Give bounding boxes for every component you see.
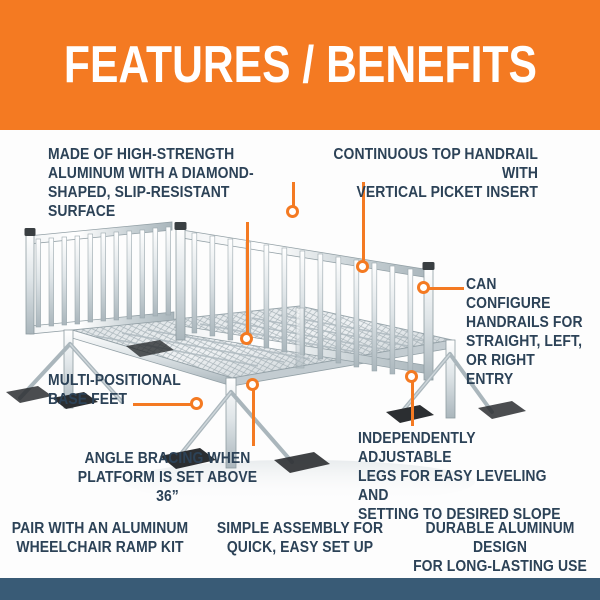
callout-line: OR RIGHT ENTRY	[466, 352, 583, 390]
callout-line: PLATFORM IS SET ABOVE 36”	[71, 469, 265, 507]
callout-line: VERTICAL PICKET INSERT	[313, 184, 538, 203]
callout-material: MADE OF HIGH-STRENGTH ALUMINUM WITH A DI…	[48, 146, 264, 222]
callout-angle-bracing: ANGLE BRACING WHEN PLATFORM IS SET ABOVE…	[71, 450, 265, 507]
callout-handrail: CONTINUOUS TOP HANDRAIL WITH VERTICAL PI…	[313, 146, 538, 203]
bottom-feature-durability: DURABLE ALUMINUM DESIGN FOR LONG-LASTING…	[400, 520, 600, 577]
bottom-feature-ramp-kit: PAIR WITH AN ALUMINUM WHEELCHAIR RAMP KI…	[0, 520, 200, 558]
callout-configure: CAN CONFIGURE HANDRAILS FOR STRAIGHT, LE…	[466, 276, 583, 389]
callout-line: STRAIGHT, LEFT,	[466, 333, 583, 352]
callout-line: CAN CONFIGURE	[466, 276, 583, 314]
callout-marker-configure	[417, 281, 430, 294]
bottom-feature-line: QUICK, EASY SET UP	[210, 539, 390, 558]
callout-line: MADE OF HIGH-STRENGTH	[48, 146, 264, 165]
callout-marker-base-feet	[190, 397, 203, 410]
bottom-feature-assembly: SIMPLE ASSEMBLY FOR QUICK, EASY SET UP	[200, 520, 400, 558]
bottom-feature-line: WHEELCHAIR RAMP KIT	[10, 539, 190, 558]
bottom-feature-line: DURABLE ALUMINUM DESIGN	[410, 520, 590, 558]
callout-line: BASE FEET	[48, 391, 183, 410]
leader-line-material	[246, 222, 249, 338]
callout-line: ANGLE BRACING WHEN	[71, 450, 265, 469]
callout-marker-handrail-secondary	[356, 260, 369, 273]
leader-line-angle-bracing	[252, 390, 255, 446]
callout-line: HANDRAILS FOR	[466, 314, 583, 333]
callout-base-feet: MULTI-POSITIONAL BASE FEET	[48, 372, 183, 410]
bottom-feature-row: PAIR WITH AN ALUMINUM WHEELCHAIR RAMP KI…	[0, 520, 600, 572]
page-title: FEATURES / BENEFITS	[63, 39, 536, 91]
callout-line: ALUMINUM WITH A DIAMOND-	[48, 165, 264, 184]
bottom-feature-line: PAIR WITH AN ALUMINUM	[10, 520, 190, 539]
callout-marker-angle-bracing	[246, 378, 259, 391]
callout-marker-handrail	[286, 205, 299, 218]
bottom-feature-line: SIMPLE ASSEMBLY FOR	[210, 520, 390, 539]
callout-line: MULTI-POSITIONAL	[48, 372, 183, 391]
callout-adjustable-legs: INDEPENDENTLY ADJUSTABLE LEGS FOR EASY L…	[358, 430, 570, 525]
bottom-feature-line: FOR LONG-LASTING USE	[410, 558, 590, 577]
callout-line: LEGS FOR EASY LEVELING AND	[358, 468, 570, 506]
callout-line: SURFACE	[48, 203, 264, 222]
callout-line: SHAPED, SLIP-RESISTANT	[48, 184, 264, 203]
callout-line: INDEPENDENTLY ADJUSTABLE	[358, 430, 570, 468]
callout-marker-adjustable-legs	[405, 370, 418, 383]
leader-line-adjustable-legs	[411, 382, 414, 426]
features-benefits-infographic: FEATURES / BENEFITS	[0, 0, 600, 600]
leader-line-configure	[426, 287, 464, 290]
header-banner: FEATURES / BENEFITS	[0, 0, 600, 130]
callout-line: CONTINUOUS TOP HANDRAIL WITH	[313, 146, 538, 184]
footer-bar	[0, 578, 600, 600]
callout-marker-material	[240, 332, 253, 345]
